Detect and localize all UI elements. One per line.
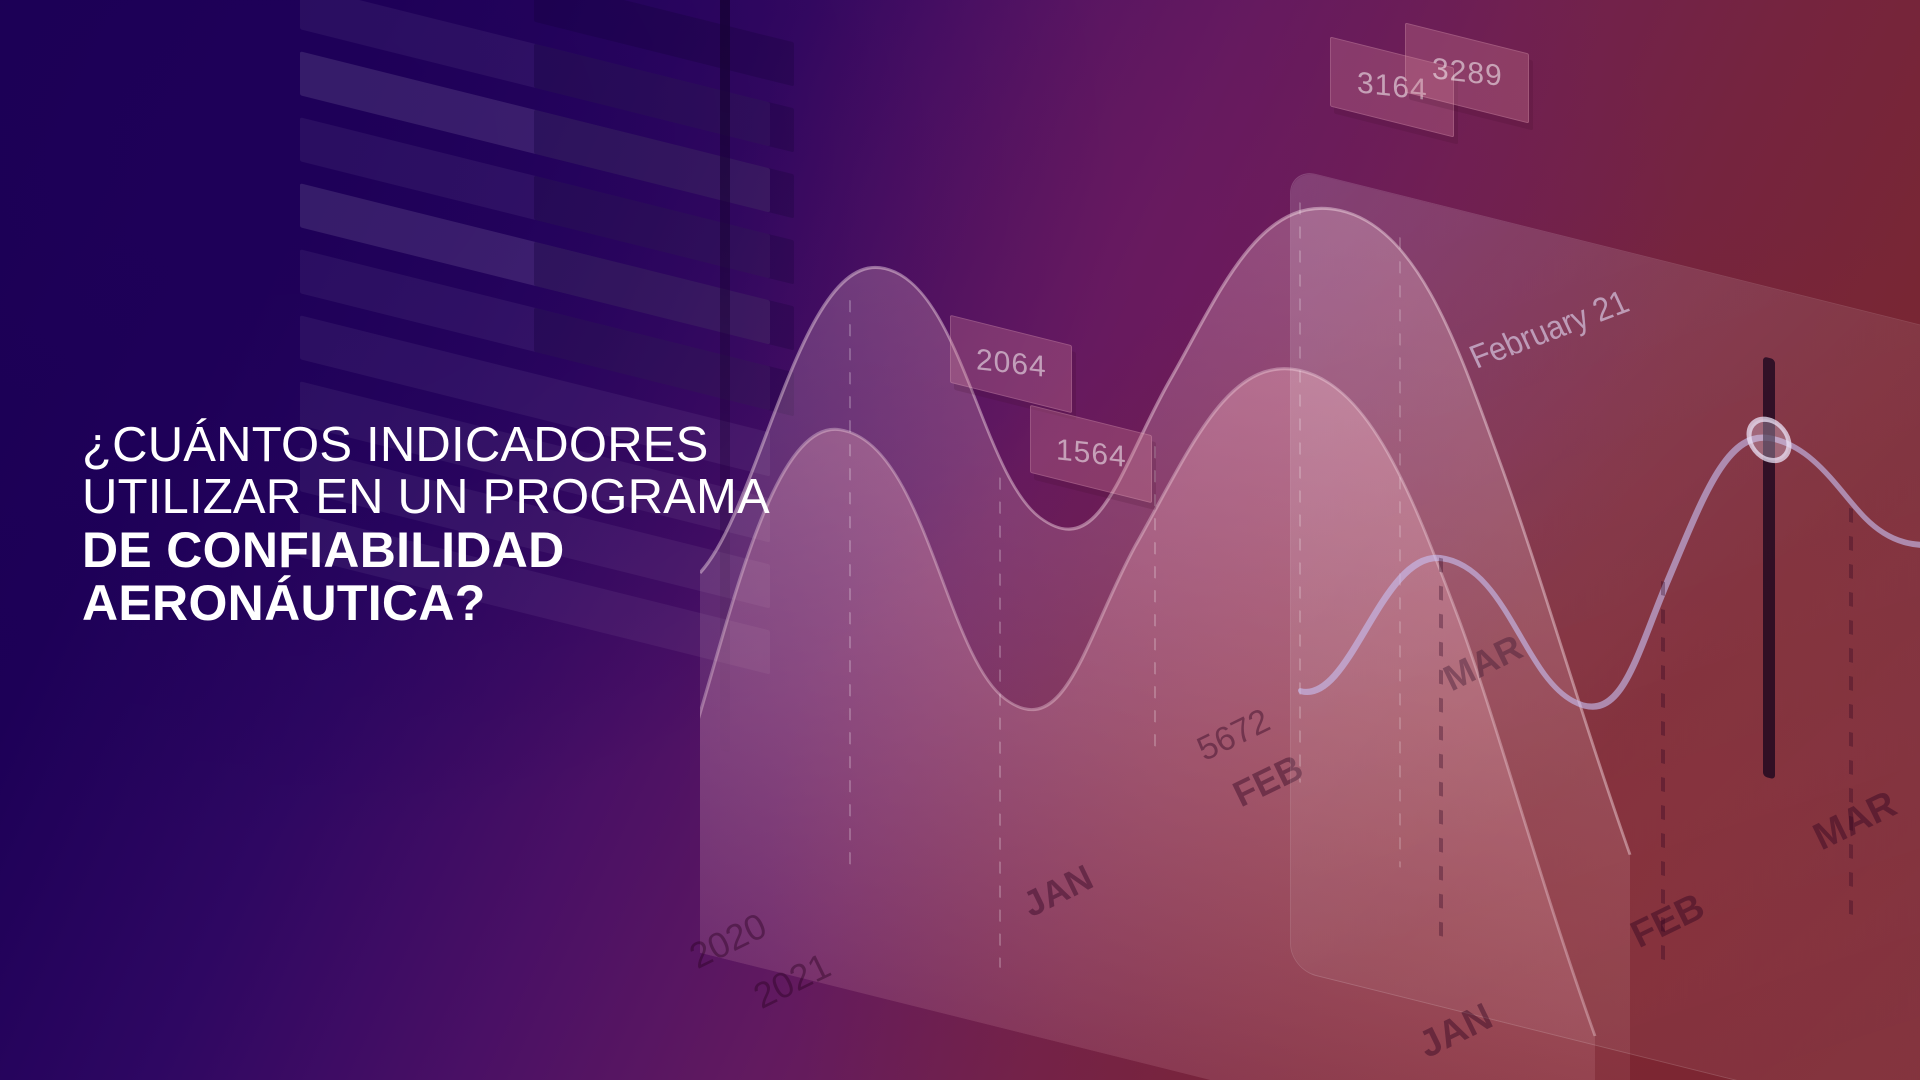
headline: ¿CUÁNTOS INDICADORES UTILIZAR EN UN PROG… [82,420,1082,630]
glass-card-inner: February 21 [1291,169,1920,1080]
hero-banner: 2064 1564 3164 3289 2020 2021 JAN 5672 F… [0,0,1920,1080]
headline-line-4: AERONÁUTICA? [82,577,1082,630]
headline-line-3: DE CONFIABILIDAD [82,524,1082,577]
tooltip-3289-value: 3289 [1432,52,1503,94]
glass-card[interactable]: February 21 [1290,167,1920,1080]
tooltip-2064-value: 2064 [976,343,1047,385]
headline-line-1: ¿CUÁNTOS INDICADORES [82,420,1082,472]
headline-line-2: UTILIZAR EN UN PROGRAMA [82,472,1082,524]
